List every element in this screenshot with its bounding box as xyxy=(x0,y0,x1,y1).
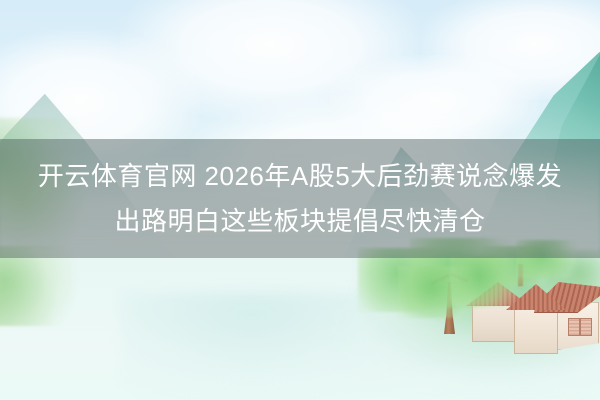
tree-canopy xyxy=(450,256,520,306)
left-foliage-lower xyxy=(0,246,94,326)
illustration-banner: 开云体育官网 2026年A股5大后劲赛说念爆发 出路明白这些板块提倡尽快清仓 xyxy=(0,0,600,400)
tree xyxy=(392,252,532,372)
headline-line-1: 开云体育官网 2026年A股5大后劲赛说念爆发 xyxy=(38,154,562,199)
window-mullion xyxy=(579,318,581,336)
headline-line-2: 出路明白这些板块提倡尽快清仓 xyxy=(114,199,485,244)
headline-overlay-band: 开云体育官网 2026年A股5大后劲赛说念爆发 出路明白这些板块提倡尽快清仓 xyxy=(0,139,600,258)
